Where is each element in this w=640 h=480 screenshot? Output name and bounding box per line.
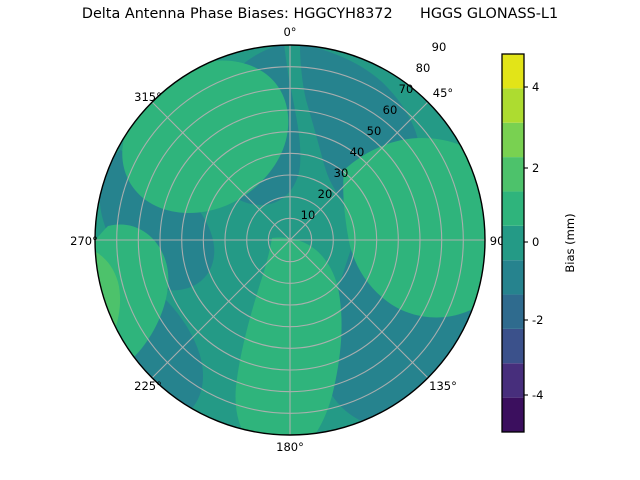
angular-tick-0: 0° — [283, 25, 296, 39]
colorbar-tick-label-neg4: -4 — [532, 388, 543, 402]
colorbar-band-8 — [502, 123, 524, 157]
colorbar-band-1 — [502, 363, 524, 397]
colorbar-tick-label-0: 0 — [532, 235, 539, 249]
colorbar-band-2 — [502, 329, 524, 363]
angular-tick-225: 225° — [134, 379, 162, 393]
colorbar-band-5 — [502, 226, 524, 260]
angular-tick-180: 180° — [276, 440, 304, 454]
radial-tick-30: 30 — [334, 166, 349, 180]
radial-tick-90: 90 — [432, 40, 447, 54]
radial-tick-10: 10 — [301, 208, 316, 222]
figure-canvas: Delta Antenna Phase Biases: HGGCYH8372 H… — [0, 0, 640, 480]
colorbar-band-10 — [502, 54, 524, 88]
colorbar-band-0 — [502, 398, 524, 432]
contour-patch-brightgreen-west — [61, 252, 120, 376]
colorbar[interactable]: 4 2 0 -2 -4 Bias (mm) — [502, 54, 577, 432]
colorbar-band-3 — [502, 295, 524, 329]
radial-tick-20: 20 — [318, 187, 333, 201]
angular-tick-135: 135° — [429, 379, 457, 393]
colorbar-axis-label: Bias (mm) — [563, 213, 577, 272]
colorbar-band-4 — [502, 260, 524, 294]
colorbar-tick-label-neg2: -2 — [532, 313, 543, 327]
colorbar-tick-label-4: 4 — [532, 80, 539, 94]
colorbar-tick-labels: 4 2 0 -2 -4 — [532, 80, 543, 402]
colorbar-band-7 — [502, 157, 524, 191]
colorbar-band-6 — [502, 191, 524, 225]
angular-tick-45: 45° — [433, 86, 453, 100]
colorbar-gradient-bands — [502, 54, 524, 432]
radial-tick-60: 60 — [383, 103, 398, 117]
contour-data-layer — [51, 44, 518, 456]
radial-tick-40: 40 — [350, 145, 365, 159]
colorbar-band-9 — [502, 88, 524, 122]
radial-tick-80: 80 — [416, 61, 431, 75]
angular-tick-315: 315° — [134, 90, 162, 104]
radial-tick-70: 70 — [399, 82, 414, 96]
angular-tick-270: 270° — [70, 234, 98, 248]
colorbar-tick-label-2: 2 — [532, 161, 539, 175]
radial-tick-50: 50 — [367, 124, 382, 138]
polar-plot-axes: 10 20 30 40 50 60 70 80 90 0° 45° 90° 13… — [0, 0, 640, 480]
